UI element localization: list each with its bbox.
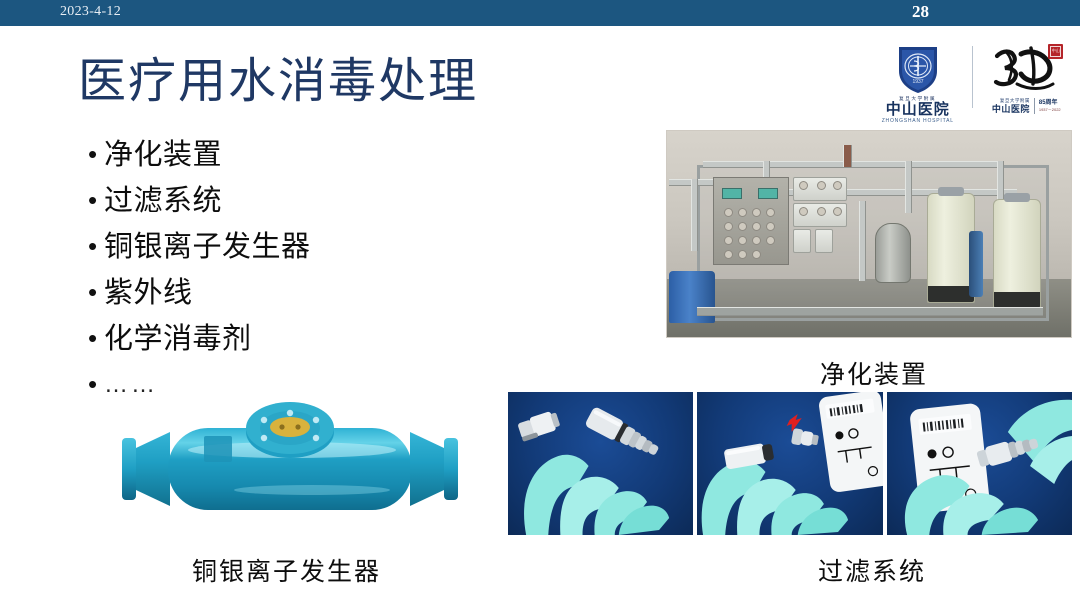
panel-button: [752, 222, 761, 231]
membrane-port: [817, 181, 826, 190]
panel-button: [752, 236, 761, 245]
purifier-caption: 净化装置: [820, 355, 928, 391]
panel-button: [724, 236, 733, 245]
flange-bolt: [313, 435, 319, 441]
flange-bolt: [261, 435, 267, 441]
panel-button: [738, 250, 747, 259]
membrane-port: [817, 207, 826, 216]
page-title: 医疗用水消毒处理: [78, 58, 478, 106]
panel-button: [752, 208, 761, 217]
seal-stamp-icon: 中山: [1048, 44, 1063, 59]
slide: 2023-4-12 28 医疗用水消毒处理 • 净化装置 • 过滤系统 • 铜银…: [0, 0, 1080, 608]
skid-base-rail: [697, 307, 1043, 316]
panel-button: [766, 222, 775, 231]
list-item-label: 紫外线: [104, 272, 193, 314]
body-highlight-lower: [234, 485, 390, 495]
list-item-label: 铜银离子发生器: [104, 226, 311, 268]
generator-image: [112, 402, 484, 532]
left-flange: [122, 438, 136, 500]
anniversary-years: 85周年 1937－2022: [1035, 100, 1061, 113]
vertical-pipe: [905, 161, 912, 213]
list-item-label: 净化装置: [104, 134, 222, 176]
panel-button: [738, 208, 747, 217]
shield-icon: 1937: [896, 44, 940, 94]
nameplate: [204, 436, 232, 462]
anniversary-hospital: 复旦大学附属 中山医院: [992, 98, 1035, 114]
tank-valve-head: [938, 187, 964, 196]
bullet-dot-icon: •: [88, 364, 104, 404]
right-neck: [410, 432, 444, 506]
flange-bolt: [287, 410, 293, 416]
vertical-pipe: [859, 201, 866, 281]
panel-button: [766, 236, 775, 245]
filter-tank: [993, 199, 1041, 309]
bullet-dot-icon: •: [88, 318, 104, 358]
tank-base: [928, 286, 974, 302]
panel-button: [738, 236, 747, 245]
generator-caption: 铜银离子发生器: [192, 552, 381, 588]
wall-pipe-vertical: [691, 179, 698, 251]
panel-button: [724, 222, 733, 231]
hospital-name-cn: 中山医院: [886, 102, 950, 118]
filter-step-panel-1: [508, 392, 693, 535]
blue-column: [969, 231, 983, 297]
tank-valve-head: [1004, 193, 1030, 202]
list-item-label: 化学消毒剂: [104, 318, 252, 360]
list-item: • 化学消毒剂: [88, 318, 508, 364]
hospital-affiliation: 复旦大学附属: [899, 95, 936, 102]
filter-step-panel-3: [887, 392, 1072, 535]
list-item: • 过滤系统: [88, 180, 508, 226]
list-item: • 铜银离子发生器: [88, 226, 508, 272]
anniversary-years-label: 85周年: [1039, 100, 1061, 107]
seal-text: 中山: [1050, 46, 1061, 57]
hospital-name-en: ZHONGSHAN HOSPITAL: [882, 118, 954, 125]
header-page-number: 28: [912, 2, 929, 22]
flange-bolt: [313, 417, 319, 423]
membrane-port: [833, 207, 842, 216]
list-item: • 净化装置: [88, 134, 508, 180]
calligraphy-icon: 中山: [987, 44, 1065, 96]
flange-bolt: [261, 417, 267, 423]
bullet-dot-icon: •: [88, 180, 104, 220]
display-led: [722, 188, 742, 199]
bullet-list: • 净化装置 • 过滤系统 • 铜银离子发生器 • 紫外线 • 化学消毒剂 • …: [88, 134, 508, 410]
anniversary-caption: 复旦大学附属 中山医院 85周年 1937－2022: [992, 98, 1061, 114]
bullet-dot-icon: •: [88, 226, 104, 266]
anniversary-years-range: 1937－2022: [1039, 107, 1061, 113]
tank-base: [994, 292, 1040, 308]
panel-button: [724, 208, 733, 217]
ceiling-pipe: [843, 145, 852, 167]
panel-button: [724, 250, 733, 259]
list-item-label: ……: [104, 364, 158, 406]
bullet-dot-icon: •: [88, 134, 104, 174]
brass-bolt: [295, 424, 300, 429]
left-neck: [136, 432, 170, 506]
flow-meter: [815, 229, 833, 253]
panel-button: [766, 208, 775, 217]
list-item: • 紫外线: [88, 272, 508, 318]
filter-step-panel-2: [697, 392, 882, 535]
pressure-vessel: [875, 223, 911, 283]
anniversary-name-cn: 中山医院: [992, 104, 1030, 114]
panel-button: [752, 250, 761, 259]
bullet-dot-icon: •: [88, 272, 104, 312]
membrane-port: [799, 181, 808, 190]
anniversary-logo: 中山 复旦大学附属 中山医院 85周年 1937－2022: [981, 44, 1073, 114]
svg-text:1937: 1937: [912, 79, 923, 85]
membrane-port: [833, 181, 842, 190]
panel-button: [738, 222, 747, 231]
logo-divider: [972, 46, 973, 108]
right-flange: [444, 438, 458, 500]
brass-plate: [270, 417, 310, 437]
filter-tank: [927, 193, 975, 303]
filter-system-image: [508, 392, 1072, 535]
list-item-label: 过滤系统: [104, 180, 222, 222]
hospital-logo: 1937 复旦大学附属 中山医院 ZHONGSHAN HOSPITAL: [872, 44, 964, 125]
membrane-port: [799, 207, 808, 216]
flow-meter: [793, 229, 811, 253]
generator-illustration: [112, 402, 484, 532]
filter-caption: 过滤系统: [818, 552, 926, 588]
overhead-pipe: [703, 161, 1003, 168]
header-date: 2023-4-12: [60, 4, 121, 20]
display-led: [758, 188, 778, 199]
logo-block: 1937 复旦大学附属 中山医院 ZHONGSHAN HOSPITAL 中山: [872, 44, 1072, 122]
control-panel: [713, 177, 789, 265]
purifier-photo: [666, 130, 1072, 338]
brass-bolt: [279, 424, 284, 429]
